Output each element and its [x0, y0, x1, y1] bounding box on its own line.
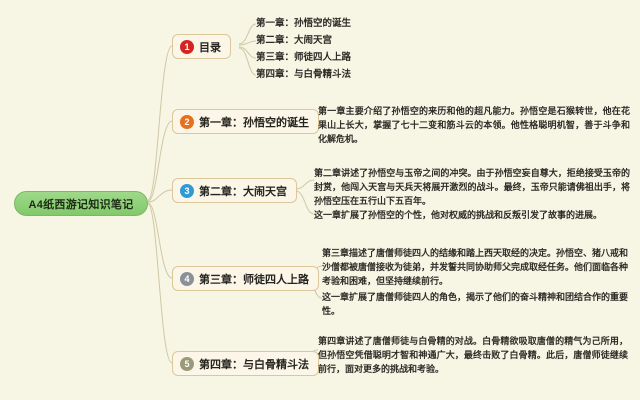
- topic-node-toc[interactable]: 1 目录: [172, 34, 231, 59]
- toc-item-4[interactable]: 第四章：与白骨精斗法: [256, 69, 351, 81]
- topic-label-chapter-3: 第三章：师徒四人上路: [199, 271, 309, 287]
- topic-label-chapter-4: 第四章：与白骨精斗法: [199, 356, 309, 372]
- root-node[interactable]: A4纸西游记知识笔记: [14, 191, 148, 216]
- topic-node-chapter-3[interactable]: 4 第三章：师徒四人上路: [172, 266, 319, 291]
- paragraph-chapter-1-1: 第一章主要介绍了孙悟空的来历和他的超凡能力。孙悟空是石猴转世，他在花果山上长大，…: [318, 104, 630, 146]
- paragraph-chapter-2-1: 第二章讲述了孙悟空与玉帝之间的冲突。由于孙悟空妄自尊大，拒绝接受玉帝的封赏，他闯…: [314, 166, 630, 208]
- toc-item-2[interactable]: 第二章：大闹天宫: [256, 35, 332, 47]
- toc-item-3[interactable]: 第三章：师徒四人上路: [256, 52, 351, 64]
- badge-4: 4: [180, 272, 194, 286]
- root-label: A4纸西游记知识笔记: [28, 196, 133, 212]
- badge-2: 2: [180, 115, 194, 129]
- badge-3: 3: [180, 184, 194, 198]
- topic-node-chapter-4[interactable]: 5 第四章：与白骨精斗法: [172, 351, 319, 376]
- topic-label-toc: 目录: [199, 39, 221, 55]
- topic-label-chapter-1: 第一章：孙悟空的诞生: [199, 114, 309, 130]
- badge-5: 5: [180, 357, 194, 371]
- paragraph-chapter-3-1: 第三章描述了唐僧师徒四人的结缘和踏上西天取经的决定。孙悟空、猪八戒和沙僧都被唐僧…: [322, 246, 628, 288]
- mindmap-canvas: A4纸西游记知识笔记 1 目录 第一章：孙悟空的诞生 第二章：大闹天宫 第三章：…: [0, 0, 640, 400]
- toc-item-1[interactable]: 第一章：孙悟空的诞生: [256, 18, 351, 30]
- topic-node-chapter-1[interactable]: 2 第一章：孙悟空的诞生: [172, 109, 319, 134]
- paragraph-chapter-4-1: 第四章讲述了唐僧师徒与白骨精的对战。白骨精欲吸取唐僧的精气为己所用，但孙悟空凭借…: [318, 334, 628, 376]
- topic-node-chapter-2[interactable]: 3 第二章：大闹天宫: [172, 178, 297, 203]
- badge-1: 1: [180, 40, 194, 54]
- paragraph-chapter-3-2: 这一章扩展了唐僧师徒四人的角色，揭示了他们的奋斗精神和团结合作的重要性。: [322, 290, 628, 318]
- topic-label-chapter-2: 第二章：大闹天宫: [199, 183, 287, 199]
- paragraph-chapter-2-2: 这一章扩展了孙悟空的个性，他对权威的挑战和反叛引发了故事的进展。: [314, 208, 630, 222]
